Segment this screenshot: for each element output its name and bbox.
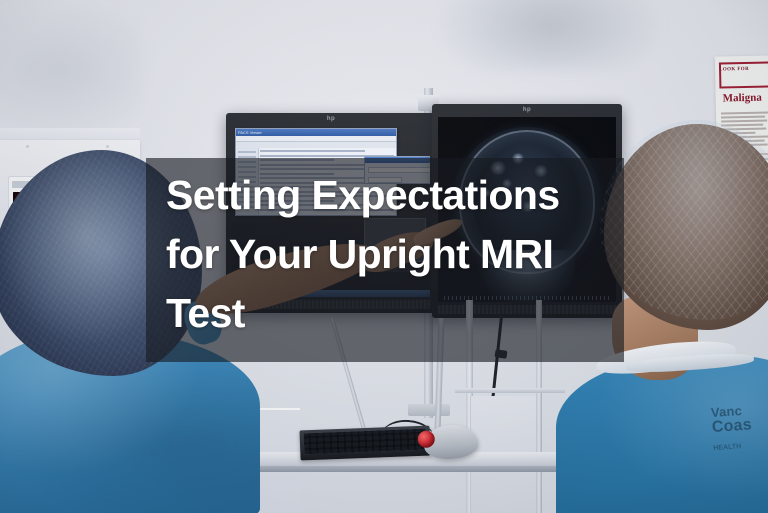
trackball-ball[interactable]: [417, 430, 435, 448]
page-title: Setting Expectations for Your Upright MR…: [166, 166, 618, 343]
monitor-left-brand: hp: [327, 116, 335, 122]
window-title: PACS Viewer: [238, 130, 262, 135]
poster-title: Maligna: [723, 92, 762, 105]
cabinet-rail-horizontal: [455, 388, 565, 393]
screenshot-canvas: 14 16 52 LOOK FOR Maligna: [0, 0, 768, 513]
wall-shadow-left: [0, 0, 140, 140]
monitor-mount-base: [408, 404, 450, 416]
window-titlebar[interactable]: PACS Viewer: [236, 129, 396, 136]
poster-eyebrow: LOOK FOR: [719, 67, 749, 73]
keyboard[interactable]: [299, 426, 430, 461]
page-title-line-1: Setting Expectations: [166, 166, 618, 225]
keyboard-keys[interactable]: [304, 429, 427, 455]
page-title-line-3: Test: [166, 284, 618, 343]
scrubs-print: Vanc Coas HEALTH: [710, 402, 768, 453]
poster-accent-frame: [719, 61, 768, 88]
page-title-line-2: for Your Upright MRI: [166, 225, 618, 284]
wall-shadow-top-right: [430, 0, 670, 70]
monitor-right-brand: hp: [523, 107, 531, 113]
scrubs-print-line-2: Coas: [711, 416, 768, 437]
title-overlay-scrim: Setting Expectations for Your Upright MR…: [146, 158, 624, 362]
